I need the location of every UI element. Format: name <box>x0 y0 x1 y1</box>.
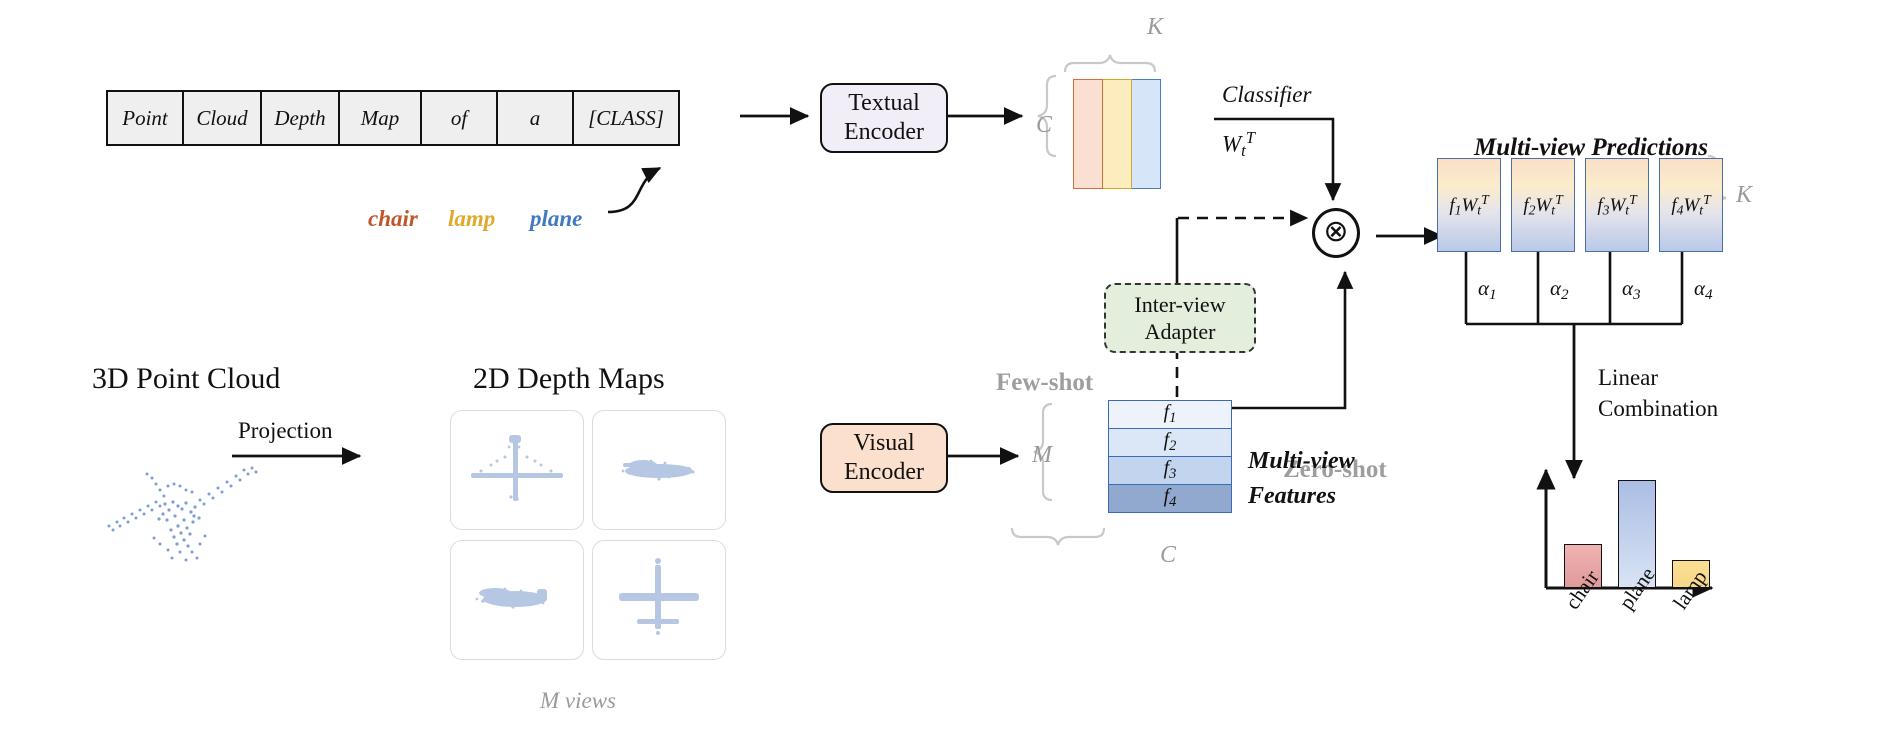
prompt-token-of[interactable]: of <box>422 92 498 144</box>
dim-label-C: C <box>1036 112 1052 139</box>
feature-row-1[interactable]: f1 <box>1108 400 1232 429</box>
matrix-multiply-icon: ⊗ <box>1312 208 1360 258</box>
depth-map-card-4[interactable] <box>592 540 726 660</box>
depth-map-card-1[interactable] <box>450 410 584 530</box>
textual-encoder-line1: Textual <box>844 89 924 118</box>
prompt-token-class[interactable]: [CLASS] <box>574 92 678 144</box>
dim-label-K: K <box>1147 14 1163 41</box>
prompt-token-strip: Point Cloud Depth Map of a [CLASS] <box>106 90 680 146</box>
classifier-weight-label: WtT <box>1222 128 1255 161</box>
alpha-label-1: α1 <box>1478 276 1497 304</box>
dim-label-M: M <box>1032 442 1052 469</box>
prompt-token-point[interactable]: Point <box>108 92 184 144</box>
alpha-label-3: α3 <box>1622 276 1641 304</box>
bar-label-lamp: lamp <box>1668 600 1710 625</box>
combination-label: Combination <box>1598 396 1718 422</box>
prompt-token-a[interactable]: a <box>498 92 574 144</box>
m-views-label: M views <box>540 688 616 714</box>
dim-label-C-bottom: C <box>1160 542 1176 569</box>
visual-encoder-line2: Encoder <box>844 458 924 487</box>
few-shot-label: Few-shot <box>996 369 1093 397</box>
alpha-label-2: α2 <box>1550 276 1569 304</box>
adapter-line2: Adapter <box>1134 318 1225 346</box>
prompt-token-depth[interactable]: Depth <box>262 92 340 144</box>
multiview-features-line2: Features <box>1248 483 1336 510</box>
visual-encoder-box[interactable]: Visual Encoder <box>820 423 948 493</box>
multiview-features-line1: Multi-view <box>1248 448 1355 475</box>
alpha-label-4: α4 <box>1694 276 1713 304</box>
linear-label: Linear <box>1598 365 1658 391</box>
prediction-box-row: f1WtT f2WtT f3WtT f4WtT <box>1437 158 1723 252</box>
classifier-column-chair <box>1073 79 1103 189</box>
feature-row-2[interactable]: f2 <box>1108 429 1232 457</box>
prediction-box-2[interactable]: f2WtT <box>1511 158 1575 252</box>
textual-encoder-box[interactable]: Textual Encoder <box>820 83 948 153</box>
depth-maps-title: 2D Depth Maps <box>473 362 665 396</box>
bar-label-chair: chair <box>1560 600 1602 625</box>
inter-view-adapter-box[interactable]: Inter-view Adapter <box>1104 283 1256 353</box>
classifier-column-lamp <box>1103 79 1132 189</box>
feature-stack: f1 f2 f3 f4 <box>1108 400 1232 513</box>
prediction-box-1[interactable]: f1WtT <box>1437 158 1501 252</box>
depth-map-card-3[interactable] <box>450 540 584 660</box>
class-word-plane[interactable]: plane <box>530 206 582 232</box>
class-word-chair[interactable]: chair <box>368 206 418 232</box>
prediction-box-3[interactable]: f3WtT <box>1585 158 1649 252</box>
prediction-box-4[interactable]: f4WtT <box>1659 158 1723 252</box>
bar-label-plane: plane <box>1614 600 1659 625</box>
classifier-column-plane <box>1132 79 1161 189</box>
classifier-label: Classifier <box>1222 82 1311 108</box>
feature-row-4[interactable]: f4 <box>1108 485 1232 513</box>
depth-map-grid <box>450 410 724 660</box>
multiply-symbol: ⊗ <box>1323 217 1348 247</box>
prompt-token-cloud[interactable]: Cloud <box>184 92 262 144</box>
depth-map-card-2[interactable] <box>592 410 726 530</box>
class-word-lamp[interactable]: lamp <box>448 206 495 232</box>
point-cloud-title: 3D Point Cloud <box>92 362 280 396</box>
classifier-matrix <box>1073 79 1161 189</box>
point-cloud-visual <box>60 440 290 570</box>
visual-encoder-line1: Visual <box>844 429 924 458</box>
feature-row-3[interactable]: f3 <box>1108 457 1232 485</box>
projection-label: Projection <box>238 418 333 444</box>
prompt-token-map[interactable]: Map <box>340 92 422 144</box>
adapter-line1: Inter-view <box>1134 291 1225 319</box>
dim-label-K-right: K <box>1736 182 1752 209</box>
textual-encoder-line2: Encoder <box>844 118 924 147</box>
